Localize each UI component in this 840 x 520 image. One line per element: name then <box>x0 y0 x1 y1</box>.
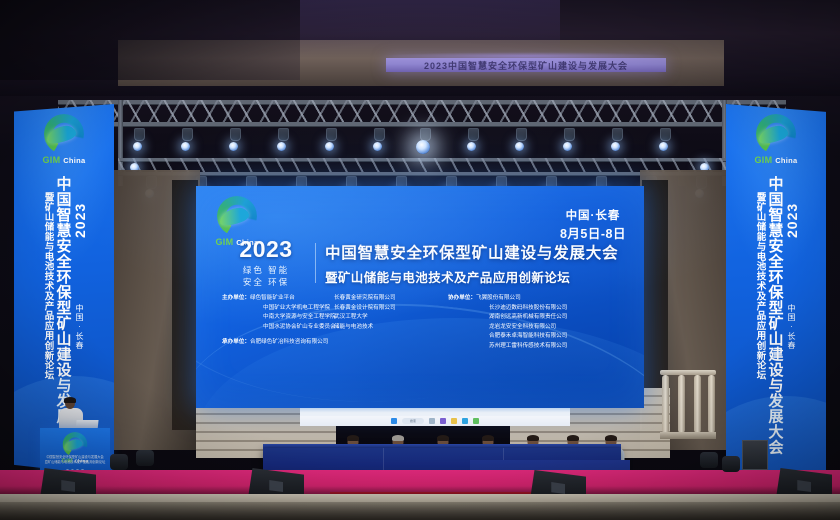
moving-head-light <box>564 128 575 141</box>
coorganizer-column: 协办单位：飞翼股份有限公司 长沙迪迈数码科技股份有限公司 湖南创远高新机械有限责… <box>448 294 588 352</box>
organizer-row: 承办单位：合肥绿色矿冶科技咨询有限公司 <box>222 338 334 348</box>
podium-title-sub: 暨矿山储能与电池技术及产品应用创新论坛 <box>44 460 106 465</box>
event-year: 2023 <box>220 238 312 261</box>
event-title-main: 中国智慧安全环保型矿山建设与发展大会 <box>325 241 626 263</box>
podium-title-lines: 中国智慧安全环保型矿山建设与发展大会 暨矿山储能与电池技术及产品应用创新论坛 <box>44 455 106 465</box>
top-led-banner: 2023中国智慧安全环保型矿山建设与发展大会 <box>386 58 666 72</box>
sponsor-block: 主办单位：绿色智能矿业平台 中国矿业大学机电工程学院 中南大学资源与安全工程学院… <box>222 294 630 352</box>
moving-head-light <box>278 128 289 141</box>
stage-light <box>373 142 382 151</box>
floor-par-light <box>722 456 740 472</box>
panelist-hair <box>527 435 539 441</box>
gim-logo-text: GIM China <box>37 155 91 165</box>
panelist-hair <box>347 435 359 441</box>
speaker-grille <box>61 480 75 492</box>
banner-year: 2023 <box>784 176 800 238</box>
slogan-line-1: 绿色 智能 <box>220 264 312 276</box>
host-item: 中国水泥协会矿山专业委员会 <box>222 323 334 333</box>
stage-light <box>325 142 334 151</box>
host-row: 主办单位：绿色智能矿业平台 <box>222 294 334 304</box>
event-title-block: 2023 绿色 智能 安全 环保 中国智慧安全环保型矿山建设与发展大会 暨矿山储… <box>220 238 626 289</box>
speaker-grille <box>269 480 283 492</box>
banner-title-main: 中国智慧安全环保型矿山建设与发展大会 <box>768 176 783 490</box>
moving-head-light <box>612 128 623 141</box>
event-year-block: 2023 绿色 智能 安全 环保 <box>220 238 312 289</box>
event-title-sub: 暨矿山储能与电池技术及产品应用创新论坛 <box>325 267 626 286</box>
balustrade-post <box>708 375 715 433</box>
moving-head-light <box>230 128 241 141</box>
ceiling-shadow <box>0 0 300 80</box>
stage-light <box>277 142 286 151</box>
conference-stage-photo: 2023中国智慧安全环保型矿山建设与发展大会 <box>0 0 840 520</box>
banner-location: 中国·长春 <box>74 304 85 350</box>
panelist-hair <box>437 435 449 441</box>
banner-year: 2023 <box>72 176 88 238</box>
coorganizer-label: 协办单位： <box>448 295 476 301</box>
coorganizer-item: 苏州理工雷科传感技术有限公司 <box>448 342 588 352</box>
widgets-icon[interactable] <box>429 418 435 424</box>
moving-head-light <box>326 128 337 141</box>
speaker-hair <box>64 397 76 403</box>
stage-light <box>133 142 142 151</box>
panelist-hair <box>605 435 617 441</box>
lower-display-screen: 搜索 <box>300 408 570 426</box>
floor-par-light <box>136 450 154 466</box>
balustrade-rail <box>660 370 716 375</box>
teams-icon[interactable] <box>440 418 446 424</box>
host-item: 储能与电池技术 <box>334 323 434 333</box>
gim-brand-suffix: China <box>63 156 85 165</box>
panelist-hair <box>567 435 579 441</box>
title-divider <box>315 243 316 283</box>
store-icon[interactable] <box>473 418 479 424</box>
stage-light <box>611 142 620 151</box>
file-explorer-icon[interactable] <box>451 418 457 424</box>
stair-balustrade-right <box>660 370 716 450</box>
coorganizer-item: 合肥泰禾卓海智能科技有限公司 <box>448 332 588 342</box>
gim-brand-suffix: China <box>775 156 797 165</box>
truss-beam-upper-lower-chord <box>58 122 786 126</box>
host-item: 长春黄金研究院有限公司 <box>334 294 434 304</box>
gim-china-logo: GIM China <box>37 114 91 165</box>
top-led-text: 2023中国智慧安全环保型矿山建设与发展大会 <box>386 59 666 72</box>
stage-light <box>181 142 190 151</box>
stage-wing-left <box>172 180 198 430</box>
light-beam <box>300 0 560 58</box>
event-title-lines: 中国智慧安全环保型矿山建设与发展大会 暨矿山储能与电池技术及产品应用创新论坛 <box>325 241 626 286</box>
gim-china-logo: GIM China <box>749 114 803 165</box>
host-item: 长春黄金设计院有限公司 <box>334 304 434 314</box>
truss-lattice-upper <box>58 100 786 124</box>
host-item: 中国矿业大学机电工程学院 <box>222 304 334 314</box>
banner-location: 中国·长春 <box>786 304 797 350</box>
host-column-1: 主办单位：绿色智能矿业平台 中国矿业大学机电工程学院 中南大学资源与安全工程学院… <box>222 294 334 352</box>
stage-light <box>515 142 524 151</box>
banner-vertical-text-right: 2023 中国·长春 中国智慧安全环保型矿山建设与发展大会 暨矿山储能与电池技术… <box>726 176 826 490</box>
moving-head-light <box>660 128 671 141</box>
event-location: 中国·长春 <box>560 208 626 225</box>
side-banner-right: GIM China 2023 中国·长春 中国智慧安全环保型矿山建设与发展大会 … <box>726 104 826 496</box>
stage-light <box>563 142 572 151</box>
floor-par-light <box>110 454 128 470</box>
host-label: 主办单位： <box>222 295 250 301</box>
host-item: 武汉工程大学 <box>334 313 434 323</box>
slogan-line-2: 安全 环保 <box>220 276 312 288</box>
balustrade-post <box>678 375 685 433</box>
balustrade-post <box>694 375 701 433</box>
coorganizer-item: 飞翼股份有限公司 <box>476 295 521 301</box>
stage-light <box>467 142 476 151</box>
edge-icon[interactable] <box>462 418 468 424</box>
taskbar-search-box[interactable]: 搜索 <box>402 418 424 424</box>
host-column-2: 长春黄金研究院有限公司 长春黄金设计院有限公司 武汉工程大学 储能与电池技术 <box>334 294 434 352</box>
organizer-label: 承办单位： <box>222 339 250 345</box>
balustrade-post <box>662 375 669 433</box>
event-slogan: 绿色 智能 安全 环保 <box>220 264 312 289</box>
host-item: 中南大学资源与安全工程学院 <box>222 313 334 323</box>
equipment-road-case <box>742 440 768 470</box>
panelist-hair <box>392 435 404 441</box>
moving-head-light <box>182 128 193 141</box>
moving-head-light <box>134 128 145 141</box>
floor-par-light <box>700 452 718 468</box>
coorganizer-item: 长沙迪迈数码科技股份有限公司 <box>448 304 588 314</box>
moving-head-light <box>468 128 479 141</box>
main-led-screen: GIM China 中国·长春 8月5日-8日 2023 绿色 智能 安全 环保… <box>196 186 644 408</box>
coorganizer-item: 湖南创远高新机械有限责任公司 <box>448 313 588 323</box>
stage-light-bright <box>416 140 430 154</box>
coorganizer-item: 龙岩龙安安全科技有限公司 <box>448 323 588 333</box>
gim-brand: GIM <box>754 155 772 165</box>
gim-brand: GIM <box>42 155 60 165</box>
organizer-item: 合肥绿色矿冶科技咨询有限公司 <box>250 339 328 345</box>
stage-light <box>229 142 238 151</box>
moving-head-light <box>516 128 527 141</box>
coorganizer-row: 协办单位：飞翼股份有限公司 <box>448 294 588 304</box>
speaker-grille <box>551 482 565 494</box>
moving-head-light <box>374 128 385 141</box>
windows-start-icon[interactable] <box>391 418 397 424</box>
front-platform-shadow <box>0 502 840 520</box>
speaker-grille <box>797 480 811 492</box>
host-item: 绿色智能矿业平台 <box>250 295 295 301</box>
panelist-hair <box>482 435 494 441</box>
stage-light <box>659 142 668 151</box>
balustrade-base <box>660 432 716 439</box>
truss-beam-lower-chord <box>118 172 728 175</box>
gim-logo-text: GIM China <box>749 155 803 165</box>
windows-taskbar[interactable]: 搜索 <box>300 416 570 426</box>
